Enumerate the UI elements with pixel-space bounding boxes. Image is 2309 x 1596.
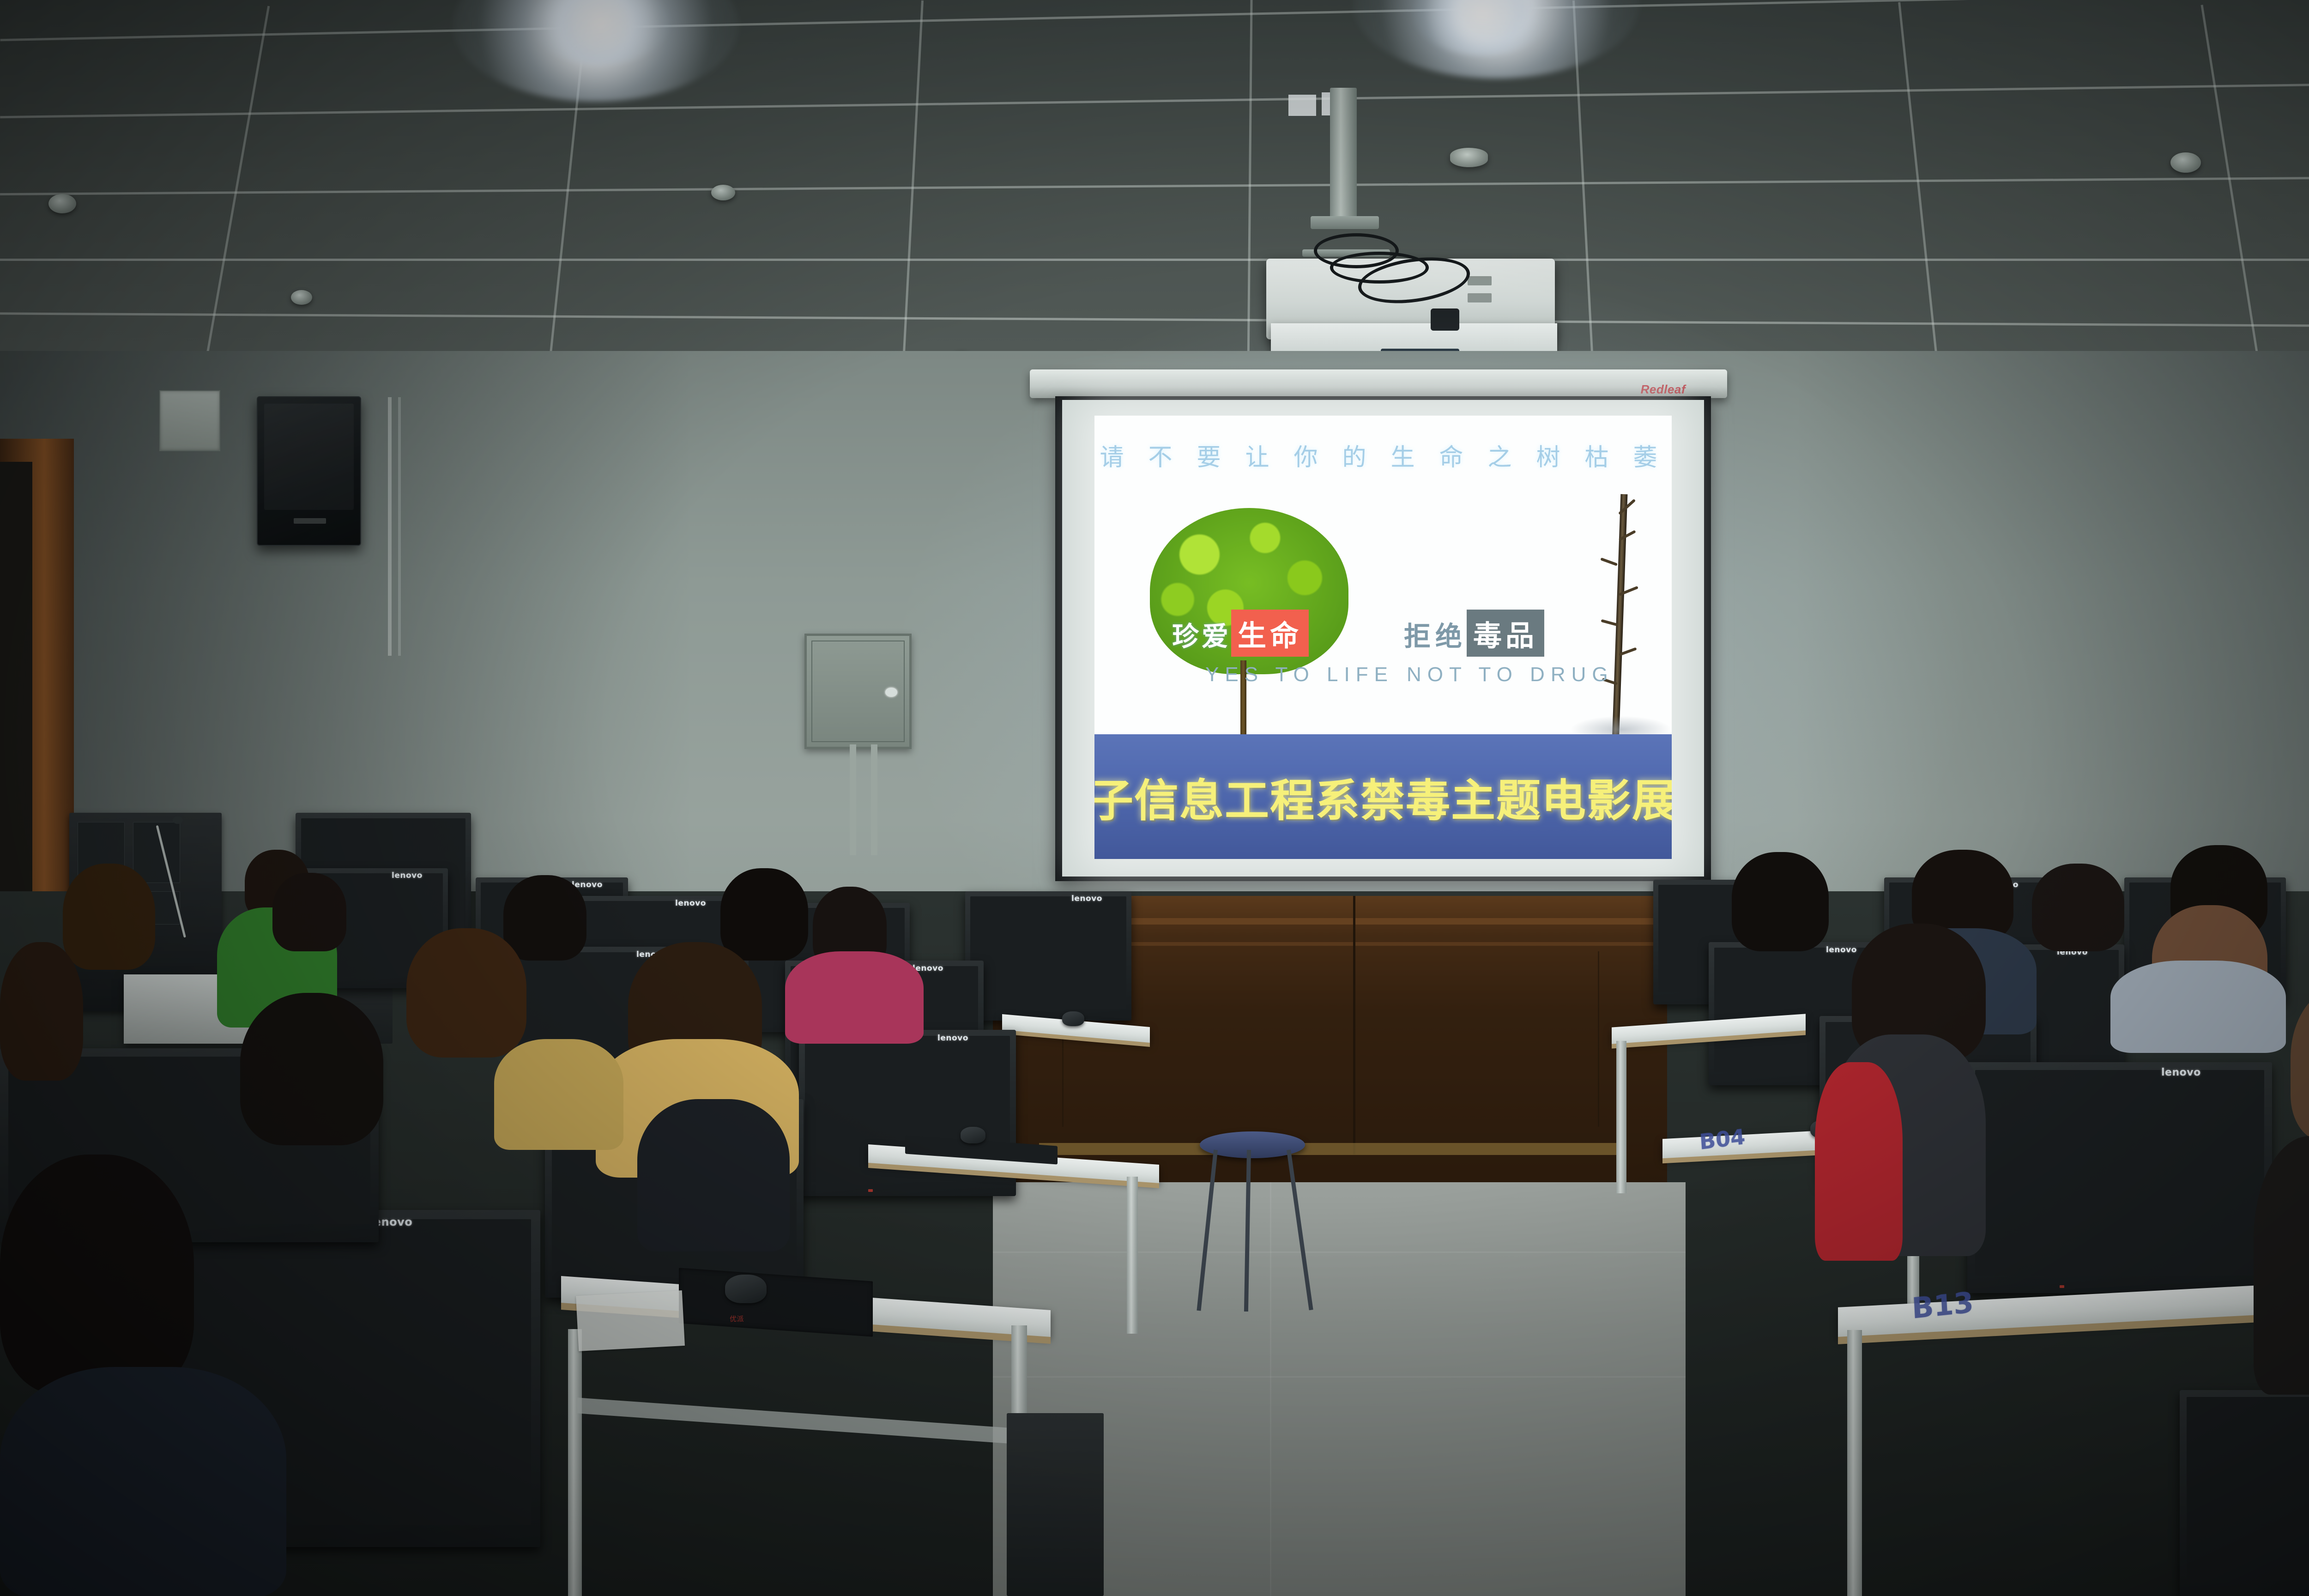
wall-vent-icon [159, 390, 220, 451]
ceiling-seam [0, 0, 2309, 41]
screen-roller-casing[interactable]: Redleaf [1030, 369, 1727, 398]
not-to-drug-group: 拒绝毒品 NOT TO DRUG [1404, 610, 1614, 686]
yes-to-life-group: 珍爱生命 YES TO LIFE [1172, 610, 1394, 686]
classroom-photo: Redleaf 请 不 要 让 你 的 生 命 之 树 枯 萎 珍爱生命 YE [0, 0, 2309, 1596]
student-body [785, 951, 924, 1044]
speaker-grill [264, 404, 354, 510]
wall-conduit [398, 397, 401, 656]
ceiling-seam [199, 6, 270, 397]
mouse[interactable] [725, 1275, 767, 1303]
wall-speaker [257, 396, 361, 546]
paper-sheet [576, 1290, 685, 1351]
slogan-left-english: YES TO LIFE [1172, 663, 1394, 686]
desk-label: B13 [1911, 1285, 1974, 1325]
slide-header-text: 请 不 要 让 你 的 生 命 之 树 枯 萎 [1094, 438, 1672, 472]
monitor [2180, 1390, 2309, 1596]
projector-connector [1431, 308, 1459, 331]
smoke-detector-icon [711, 185, 735, 200]
monitor-brand-logo: lenovo [392, 871, 423, 880]
student-head [240, 993, 383, 1145]
pc-tower [1007, 1413, 1104, 1596]
student-head [63, 864, 155, 970]
slogan-right-boxed: 毒品 [1467, 610, 1544, 657]
projector-mount-pole [1330, 88, 1357, 222]
student-body [0, 1367, 286, 1596]
student-head [406, 928, 526, 1058]
slide-banner: 电子信息工程系禁毒主题电影展播 [1094, 734, 1672, 859]
student-head [1732, 852, 1829, 951]
student-body [637, 1099, 790, 1251]
monitor-brand-logo: lenovo [1826, 945, 1857, 955]
projector-mount-plate [1311, 216, 1379, 229]
projector-port [1468, 293, 1492, 302]
wainscot-kickplate [1039, 1143, 1616, 1155]
monitor-brand-logo: lenovo [1071, 894, 1102, 903]
floor-seam [993, 1251, 1686, 1253]
monitor-brand-logo: lenovo [675, 899, 706, 908]
floor-seam [1270, 1182, 1271, 1596]
slogan-left-plain: 珍爱 [1172, 621, 1231, 652]
mousepad-text: 优派 [730, 1314, 744, 1324]
ceiling-seam [0, 259, 2309, 261]
slogan-right-plain: 拒绝 [1404, 621, 1467, 652]
ceiling-seam [0, 312, 2309, 327]
ceiling-seam [2200, 5, 2265, 397]
smoke-detector-icon [2170, 152, 2201, 173]
monitor-brand-logo: lenovo [937, 1034, 968, 1043]
panel-conduit [871, 744, 877, 855]
desk-leg [1847, 1330, 1862, 1596]
floor-seam [993, 1376, 1686, 1378]
student-head [0, 1155, 194, 1395]
desk-leg [1127, 1177, 1138, 1334]
slogan-right-english: NOT TO DRUG [1404, 663, 1614, 686]
ceiling-seam [901, 0, 924, 397]
monitor-screen [2187, 1397, 2309, 1580]
desk-leg [1616, 1041, 1626, 1193]
student-head [720, 868, 808, 961]
mouse[interactable] [961, 1127, 985, 1143]
ceiling-seam [1898, 2, 1942, 397]
slogan-left-boxed: 生命 [1231, 610, 1309, 657]
projector-port [1468, 276, 1492, 285]
smoke-detector-icon [291, 290, 312, 305]
student-head [272, 873, 346, 951]
monitor-screen [970, 896, 1126, 1009]
ceiling-seam [0, 176, 2309, 195]
projected-slide: 请 不 要 让 你 的 生 命 之 树 枯 萎 珍爱生命 YES TO LIFE [1094, 416, 1672, 859]
monitor: lenovo [1967, 1062, 2272, 1293]
ceiling-seam [0, 83, 2309, 118]
panel-latch-icon[interactable] [885, 688, 897, 697]
ceiling-vent-icon [1450, 148, 1488, 167]
desk-leg [568, 1329, 582, 1596]
monitor-brand-logo: lenovo [2161, 1067, 2201, 1078]
ceiling-sticker [1288, 95, 1316, 116]
rack-unit [133, 822, 180, 883]
monitor: lenovo [965, 891, 1131, 1021]
student-head [0, 942, 83, 1081]
student-body [2110, 961, 2286, 1053]
wall-conduit [388, 397, 392, 656]
monitor-indicator [868, 1189, 873, 1192]
smoke-detector-icon [48, 194, 76, 213]
dead-tree-stem [1612, 494, 1628, 744]
ceiling-seam [1247, 0, 1253, 397]
monitor-indicator [2060, 1285, 2064, 1288]
monitor-screen [1975, 1070, 2264, 1276]
wainscot-seam [1353, 896, 1355, 1155]
screen-brand-logo: Redleaf [1641, 382, 1686, 397]
panel-conduit [850, 744, 856, 855]
microphone-head [173, 816, 183, 824]
slide-banner-text: 电子信息工程系禁毒主题电影展播 [1094, 765, 1672, 829]
student-head [2032, 864, 2124, 951]
ceiling [0, 0, 2309, 397]
student-coat-fur [494, 1039, 623, 1150]
dead-branch [1600, 557, 1618, 566]
speaker-badge [294, 518, 326, 524]
student-body [1815, 1062, 1903, 1261]
mouse[interactable] [1062, 1011, 1084, 1026]
student-head [503, 875, 586, 961]
wall-utility-panel[interactable] [804, 634, 912, 749]
wainscot-seam [1598, 951, 1599, 1127]
